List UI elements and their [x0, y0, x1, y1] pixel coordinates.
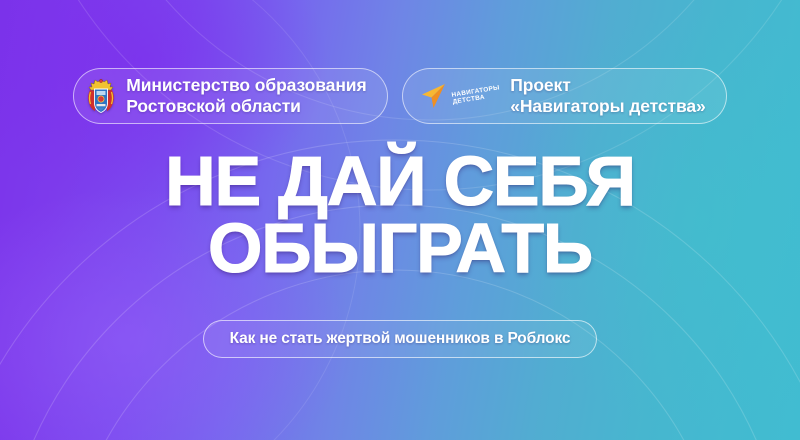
headline-line-1: НЕ ДАЙ СЕБЯ [0, 148, 800, 215]
subtitle-text: Как не стать жертвой мошенников в Роблок… [230, 330, 571, 348]
header-badge-row: Министерство образования Ростовской обла… [0, 68, 800, 124]
badge-ministry[interactable]: Министерство образования Ростовской обла… [73, 68, 387, 124]
headline-line-2: ОБЫГРАТЬ [0, 215, 800, 282]
badge-ministry-line2: Ростовской области [126, 96, 366, 117]
badge-project-line2: «Навигаторы детства» [510, 96, 705, 117]
subtitle-pill[interactable]: Как не стать жертвой мошенников в Роблок… [203, 320, 598, 358]
navigators-logo: НАВИГАТОРЫ ДЕТСТВА [415, 81, 501, 111]
badge-project-line1: Проект [510, 75, 570, 95]
badge-ministry-line1: Министерство образования [126, 75, 366, 95]
navigators-arrow-icon [419, 81, 449, 111]
badge-project[interactable]: НАВИГАТОРЫ ДЕТСТВА Проект «Навигаторы де… [402, 68, 727, 124]
rostov-oblast-coat-of-arms-icon [86, 78, 116, 114]
poster-canvas: Министерство образования Ростовской обла… [0, 0, 800, 440]
navigators-logo-wordmark: НАВИГАТОРЫ ДЕТСТВА [451, 85, 501, 106]
badge-ministry-text: Министерство образования Ростовской обла… [126, 75, 366, 116]
badge-project-text: Проект «Навигаторы детства» [510, 75, 705, 116]
subtitle-row: Как не стать жертвой мошенников в Роблок… [0, 320, 800, 358]
headline: НЕ ДАЙ СЕБЯ ОБЫГРАТЬ [0, 148, 800, 282]
